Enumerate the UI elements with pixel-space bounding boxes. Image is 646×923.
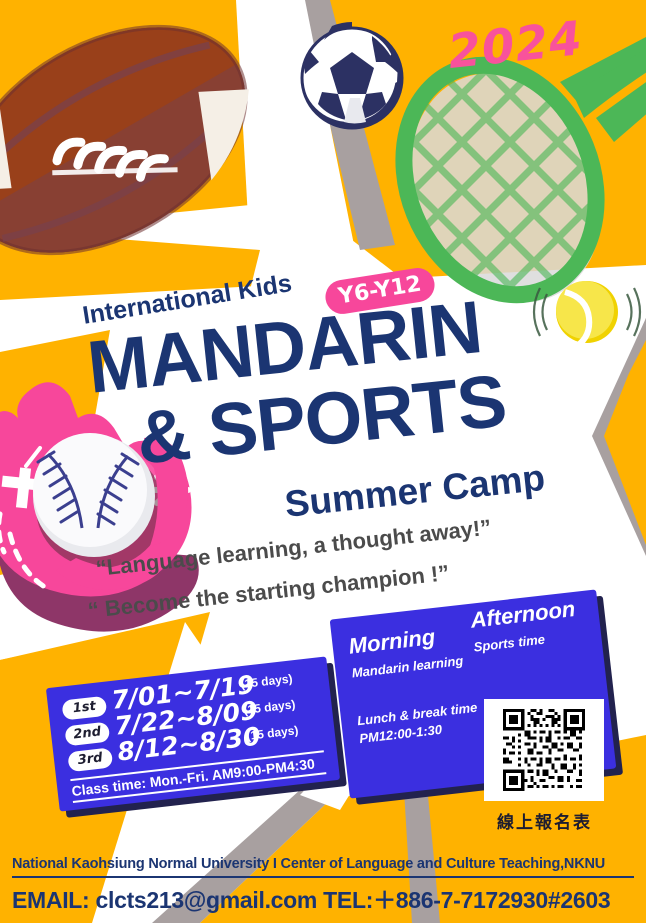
qr-code-image [491, 706, 597, 794]
afternoon-heading: Afternoon [469, 596, 576, 634]
afternoon-detail: Sports time [473, 632, 546, 655]
schedule-ordinal-3: 3rd [67, 747, 113, 772]
poster-root: 2024 International Kids Y6-Y12 MANDARIN … [0, 0, 646, 923]
morning-heading: Morning [347, 624, 436, 660]
schedule-ordinal-1: 1st [61, 696, 107, 721]
footer-organization: National Kaohsiung Normal University I C… [12, 856, 605, 872]
qr-code-label: 線上報名表 [497, 808, 592, 833]
registration-qr-code[interactable] [484, 699, 604, 801]
footer-contact: EMAIL: clcts213@gmail.com TEL:＋886-7-717… [12, 881, 610, 915]
footer-divider [12, 876, 634, 878]
schedule-ordinal-2: 2nd [64, 722, 110, 747]
